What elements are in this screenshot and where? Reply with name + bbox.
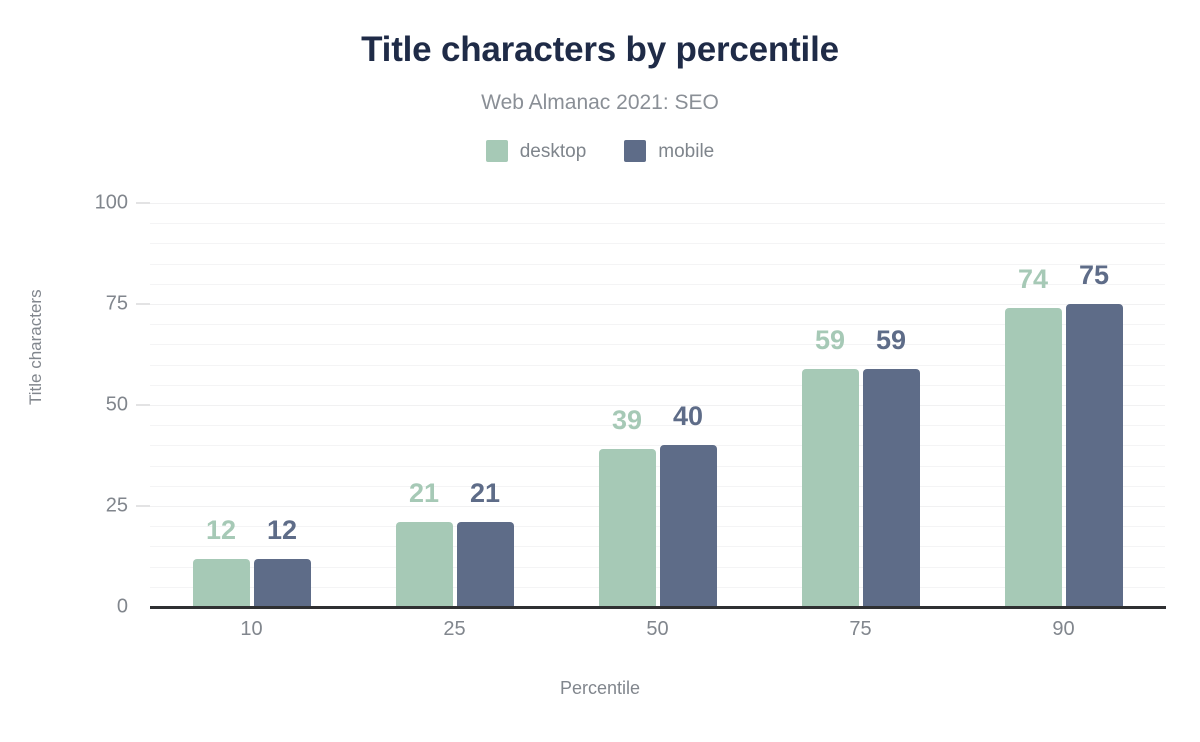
y-tick-label: 100 xyxy=(0,192,128,215)
plot-area xyxy=(150,203,1165,607)
bar-desktop-50[interactable] xyxy=(599,449,656,607)
bar-value-label: 59 xyxy=(815,327,845,354)
bar-value-label: 39 xyxy=(612,407,642,434)
bar-desktop-90[interactable] xyxy=(1005,308,1062,607)
bar-value-label: 74 xyxy=(1018,266,1048,293)
y-tick-mark xyxy=(136,404,150,406)
y-tick-label: 25 xyxy=(0,495,128,518)
bar-value-label: 75 xyxy=(1079,262,1109,289)
legend-item-desktop[interactable]: desktop xyxy=(486,140,587,162)
bar-desktop-75[interactable] xyxy=(802,369,859,607)
bar-chart: Title characters by percentile Web Alman… xyxy=(0,0,1200,742)
bar-mobile-90[interactable] xyxy=(1066,304,1123,607)
chart-legend: desktopmobile xyxy=(0,140,1200,162)
y-tick-label: 75 xyxy=(0,293,128,316)
y-tick-mark xyxy=(136,303,150,305)
bar-value-label: 59 xyxy=(876,327,906,354)
bar-value-label: 21 xyxy=(409,480,439,507)
chart-title: Title characters by percentile xyxy=(0,30,1200,70)
bar-mobile-50[interactable] xyxy=(660,445,717,607)
bar-desktop-25[interactable] xyxy=(396,522,453,607)
bar-value-label: 12 xyxy=(267,517,297,544)
x-tick-label: 25 xyxy=(443,618,465,641)
x-tick-label: 75 xyxy=(849,618,871,641)
bars-layer xyxy=(150,203,1165,607)
legend-item-mobile[interactable]: mobile xyxy=(624,140,714,162)
bar-desktop-10[interactable] xyxy=(193,559,250,607)
bar-mobile-10[interactable] xyxy=(254,559,311,607)
legend-swatch-mobile xyxy=(624,140,646,162)
bar-value-label: 40 xyxy=(673,403,703,430)
y-tick-mark xyxy=(136,202,150,204)
legend-swatch-desktop xyxy=(486,140,508,162)
x-tick-label: 50 xyxy=(646,618,668,641)
y-tick-label: 50 xyxy=(0,394,128,417)
legend-label-desktop: desktop xyxy=(520,142,587,161)
x-axis-label: Percentile xyxy=(0,678,1200,699)
bar-mobile-25[interactable] xyxy=(457,522,514,607)
y-tick-mark xyxy=(136,505,150,507)
y-tick-label: 0 xyxy=(0,596,128,619)
bar-value-label: 12 xyxy=(206,517,236,544)
x-tick-label: 10 xyxy=(240,618,262,641)
bar-mobile-75[interactable] xyxy=(863,369,920,607)
x-axis-line xyxy=(150,606,1166,609)
x-tick-label: 90 xyxy=(1052,618,1074,641)
chart-subtitle: Web Almanac 2021: SEO xyxy=(0,90,1200,115)
bar-value-label: 21 xyxy=(470,480,500,507)
legend-label-mobile: mobile xyxy=(658,142,714,161)
